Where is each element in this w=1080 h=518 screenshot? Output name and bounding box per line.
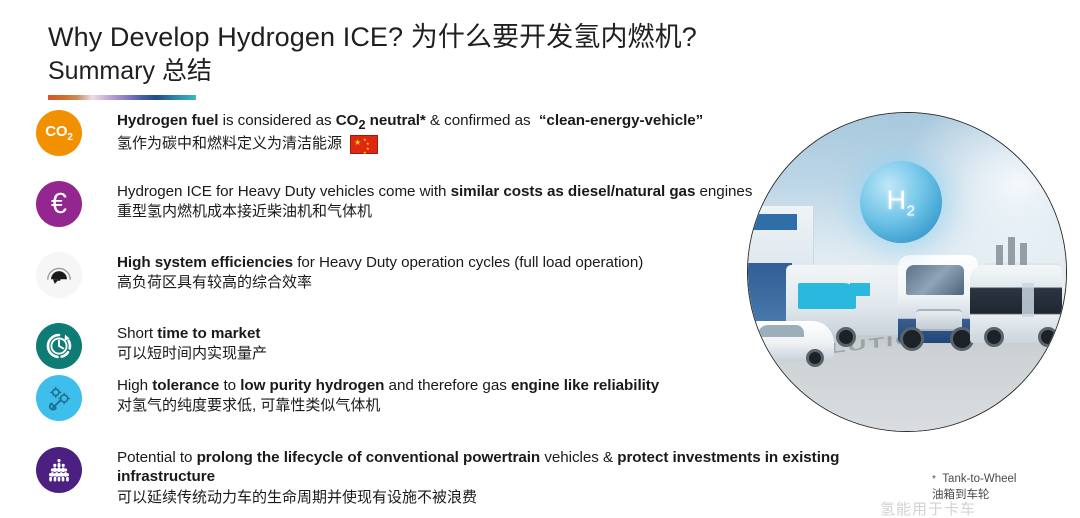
bullet-cn-label-3: 高负荷区具有较高的综合效率 xyxy=(117,273,312,293)
bullet-cn-label-4: 可以短时间内实现量产 xyxy=(117,344,267,364)
title-block: Why Develop Hydrogen ICE? 为什么要开发氢内燃机? Su… xyxy=(48,22,928,86)
bullet-cn-label-2: 重型氢内燃机成本接近柴油机和气体机 xyxy=(117,202,372,222)
euro-icon: € xyxy=(36,181,82,227)
clock-icon-svg xyxy=(43,330,75,362)
photo-wheel-car-1 xyxy=(752,349,770,367)
accent-gradient-bar xyxy=(48,95,196,100)
bullet-cn-label-1: 氢作为碳中和燃料定义为清洁能源 xyxy=(117,134,342,154)
clock-icon xyxy=(36,323,82,369)
photo-truck-window xyxy=(906,265,964,295)
h2-bubble-label: H2 xyxy=(887,185,916,219)
photo-wheel-truck-1 xyxy=(900,327,924,351)
bullet-text-cn-4: 可以短时间内实现量产 xyxy=(117,344,757,364)
china-flag-icon: ★ ★ ★ ★ ★ xyxy=(350,135,378,154)
gauge-icon-svg xyxy=(44,260,74,290)
bullet-text-en-4: Short time to market xyxy=(117,324,757,343)
photo-car-window xyxy=(758,325,804,337)
bullet-text-en-3: High system efficiencies for Heavy Duty … xyxy=(117,253,757,272)
bullet-item-tolerance: High tolerance to low purity hydrogen an… xyxy=(36,375,777,421)
photo-wheel-bus-2 xyxy=(1038,327,1058,347)
bullet-cn-label-6: 可以延续传统动力车的生命周期并使现有设施不被浪费 xyxy=(117,488,477,508)
euro-icon-glyph: € xyxy=(51,190,67,219)
photo-wheel-bus-1 xyxy=(984,327,1004,347)
footnote-en-line: * Tank-to-Wheel xyxy=(932,472,1072,488)
bullet-text-en-5: High tolerance to low purity hydrogen an… xyxy=(117,376,777,395)
gear-wrench-icon xyxy=(36,375,82,421)
footnote-en: Tank-to-Wheel xyxy=(942,473,1016,485)
people-group-icon xyxy=(36,447,82,493)
photo-wheel-trailer-2 xyxy=(836,327,856,347)
bullet-item-cost: € Hydrogen ICE for Heavy Duty vehicles c… xyxy=(36,181,777,227)
bullet-text-cn-2: 重型氢内燃机成本接近柴油机和气体机 xyxy=(117,202,777,222)
bullet-text-en-2: Hydrogen ICE for Heavy Duty vehicles com… xyxy=(117,182,777,201)
photo-trailer-logo xyxy=(798,283,856,309)
bullet-text-cn-6: 可以延续传统动力车的生命周期并使现有设施不被浪费 xyxy=(117,488,877,508)
bullet-text-en-6: Potential to prolong the lifecycle of co… xyxy=(117,448,877,487)
page-title: Why Develop Hydrogen ICE? 为什么要开发氢内燃机? xyxy=(48,22,928,54)
bullet-item-co2: CO2 Hydrogen fuel is considered as CO2 n… xyxy=(36,110,817,156)
bullet-cn-label-5: 对氢气的纯度要求低, 可靠性类似气体机 xyxy=(117,396,380,416)
flag-star-large: ★ xyxy=(354,139,361,146)
bullet-text-en-1: Hydrogen fuel is considered as CO2 neutr… xyxy=(117,111,817,133)
watermark-text: 氢能用于卡车 xyxy=(880,498,976,518)
photo-bus-door xyxy=(1022,283,1034,317)
flag-star-4: ★ xyxy=(363,151,367,155)
bullet-text-cn-3: 高负荷区具有较高的综合效率 xyxy=(117,273,757,293)
people-group-icon-svg xyxy=(44,455,74,485)
bullet-text-cn-5: 对氢气的纯度要求低, 可靠性类似气体机 xyxy=(117,396,777,416)
bullet-item-efficiency: High system efficiencies for Heavy Duty … xyxy=(36,252,757,298)
page-subtitle: Summary 总结 xyxy=(48,56,928,86)
h2-bubble-icon: H2 xyxy=(860,161,942,243)
bullet-item-lifecycle: Potential to prolong the lifecycle of co… xyxy=(36,447,877,508)
hydrogen-vehicles-photo: AVL HYDROGEN SOLUTIONS H2 xyxy=(747,112,1067,432)
footnote-star: * xyxy=(932,474,936,485)
photo-building-stripe xyxy=(751,214,797,230)
co2-icon-label: CO2 xyxy=(45,123,72,143)
gear-wrench-icon-svg xyxy=(44,383,74,413)
bullet-text-cn-1: 氢作为碳中和燃料定义为清洁能源 ★ ★ ★ ★ ★ xyxy=(117,134,817,154)
photo-wheel-car-2 xyxy=(806,349,824,367)
gauge-icon xyxy=(36,252,82,298)
co2-icon: CO2 xyxy=(36,110,82,156)
bullet-item-time-to-market: Short time to market 可以短时间内实现量产 xyxy=(36,323,757,369)
